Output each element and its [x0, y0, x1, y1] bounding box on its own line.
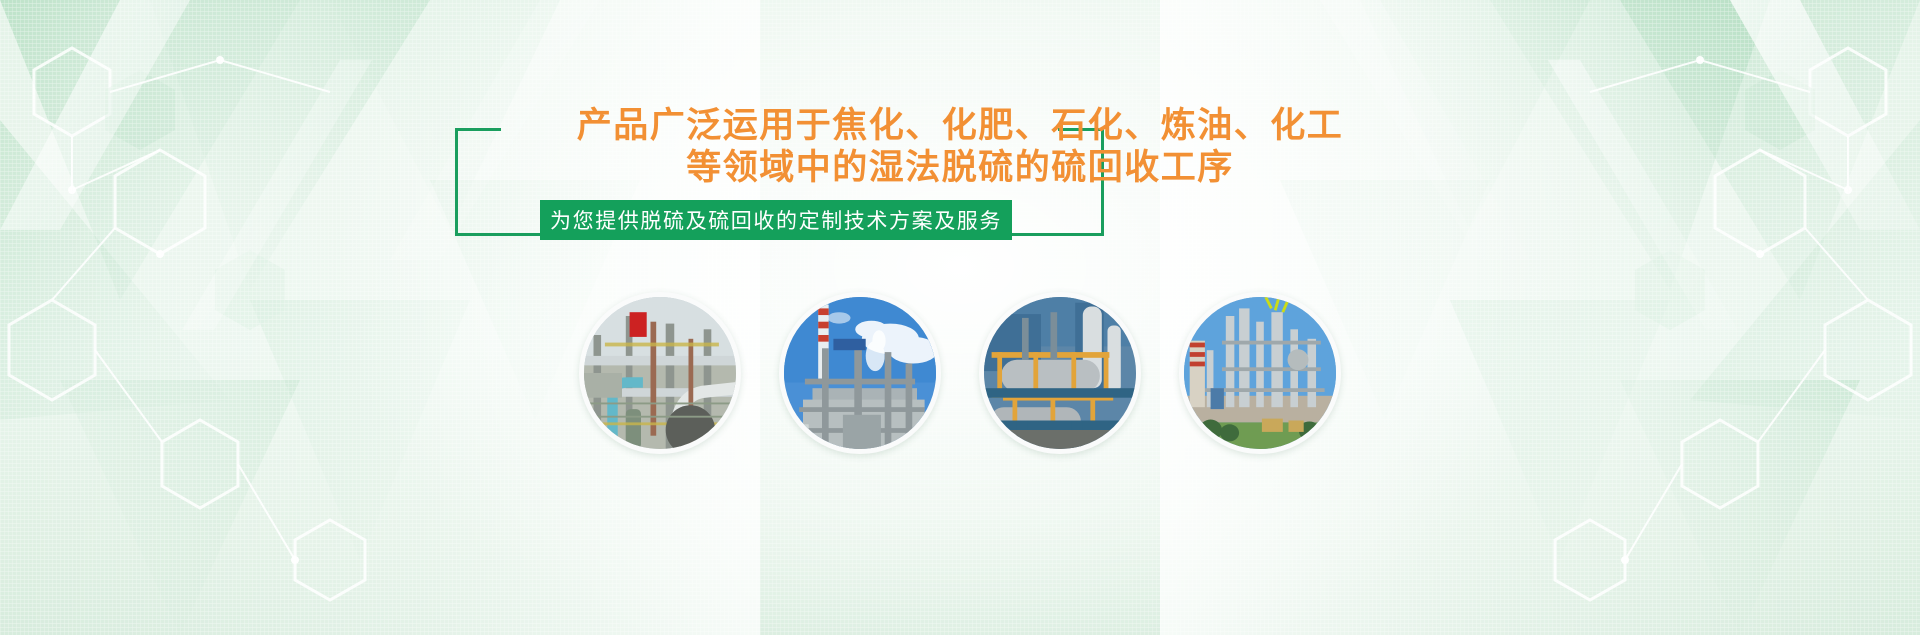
- photo-pressure-vessels[interactable]: [979, 292, 1141, 454]
- subtitle-text: 为您提供脱硫及硫回收的定制技术方案及服务: [550, 205, 1002, 235]
- subtitle-bar: 为您提供脱硫及硫回收的定制技术方案及服务: [540, 200, 1012, 240]
- banner-stage: 产品广泛运用于焦化、化肥、石化、炼油、化工 等领域中的湿法脱硫的硫回收工序 为您…: [0, 0, 1920, 635]
- headline-line-1: 产品广泛运用于焦化、化肥、石化、炼油、化工: [0, 108, 1920, 143]
- headline-text: 产品广泛运用于焦化、化肥、石化、炼油、化工 等领域中的湿法脱硫的硫回收工序: [0, 108, 1920, 185]
- photo-desulfurization-piping[interactable]: [579, 292, 741, 454]
- photo-refinery-towers[interactable]: [1179, 292, 1341, 454]
- photo-plant-chimney[interactable]: [779, 292, 941, 454]
- photo-circle-row: [0, 292, 1920, 452]
- frame-bottom-right-segment: [1005, 233, 1104, 236]
- headline-line-2: 等领域中的湿法脱硫的硫回收工序: [0, 150, 1920, 185]
